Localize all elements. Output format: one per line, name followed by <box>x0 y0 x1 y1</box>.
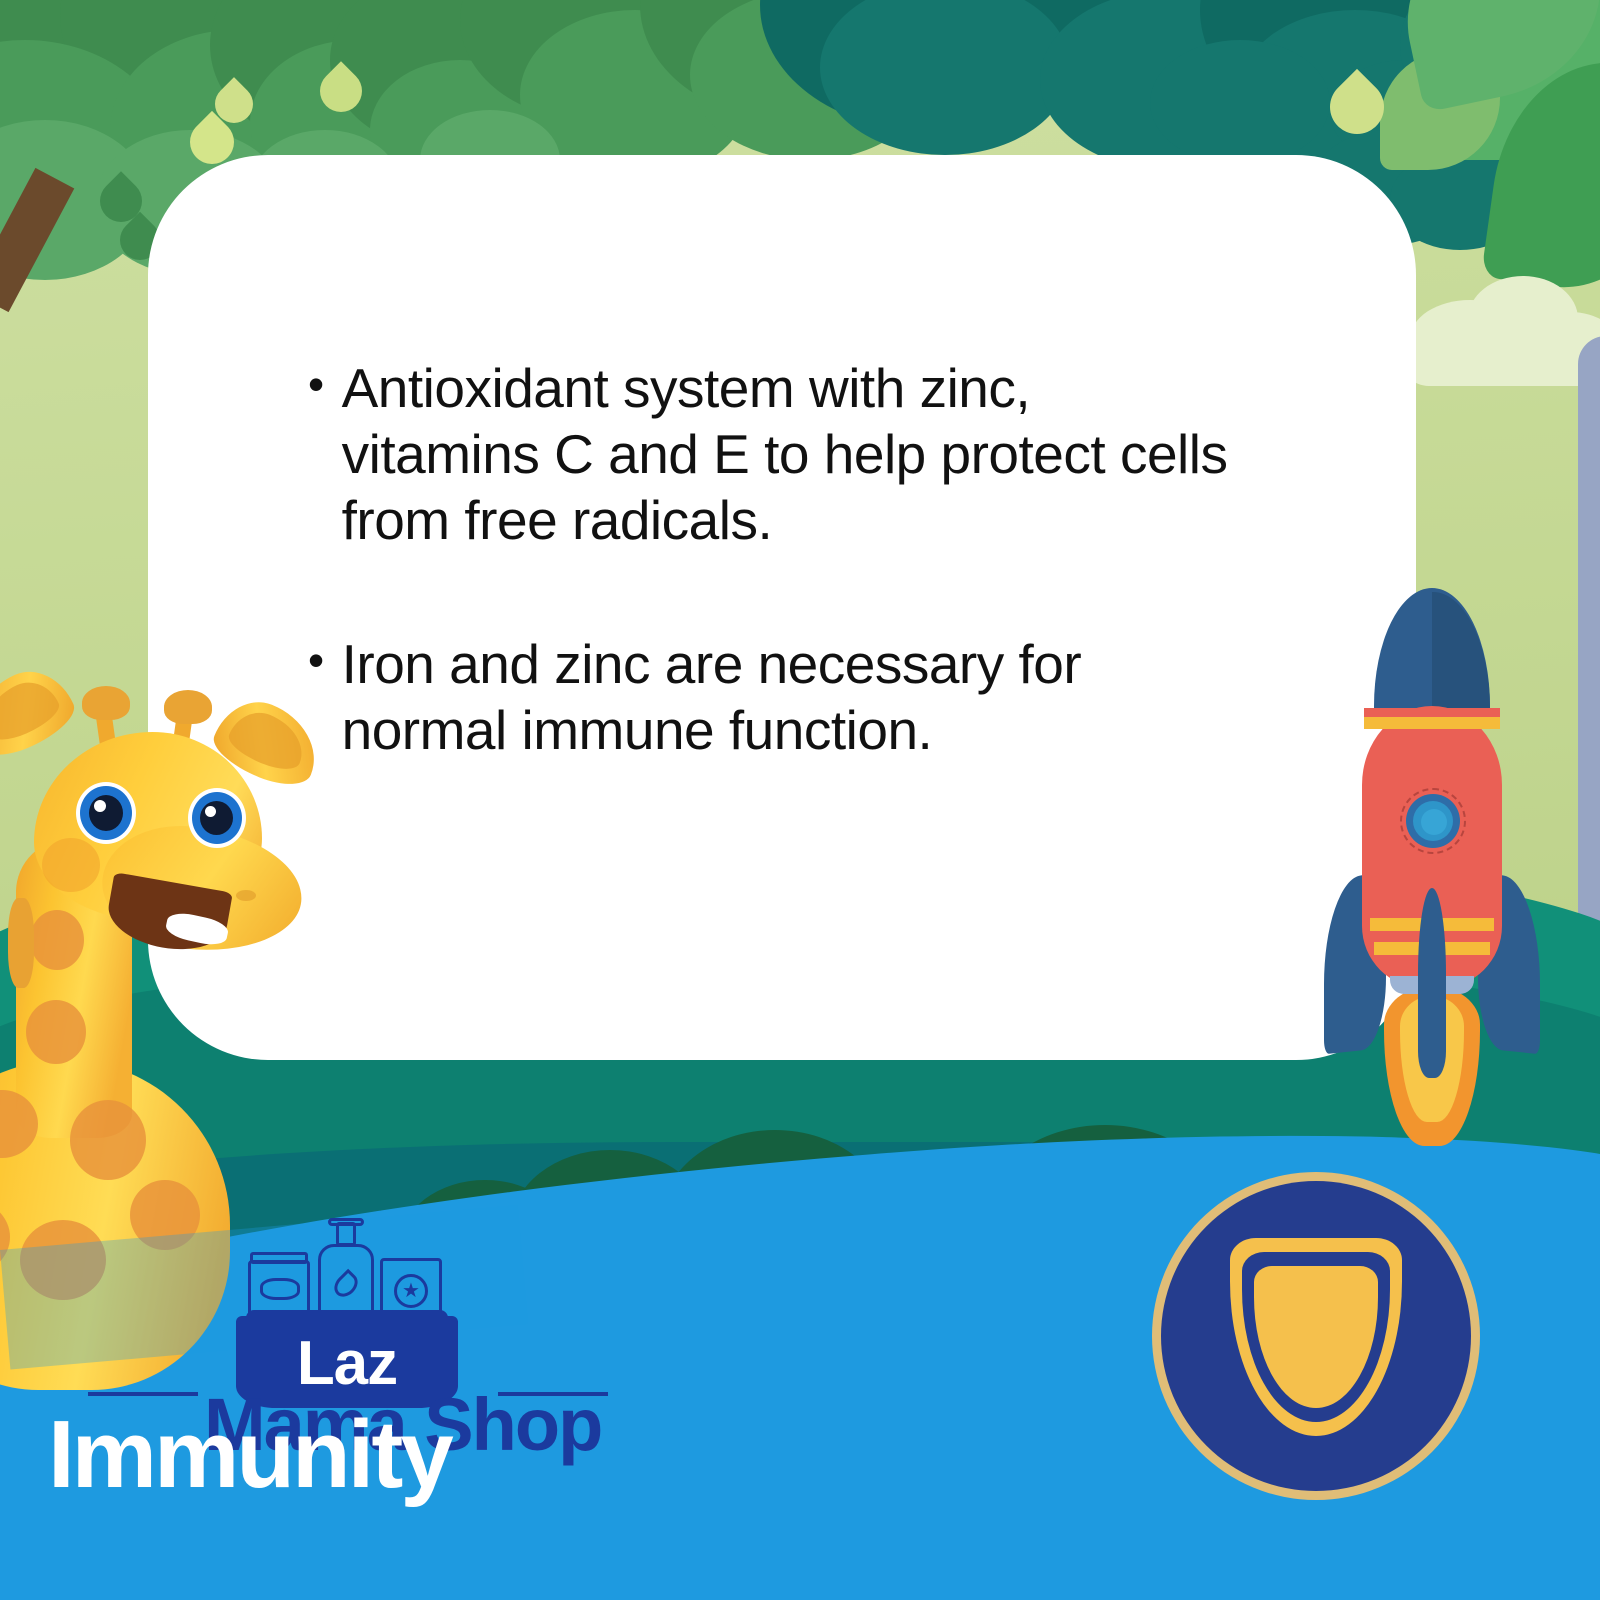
bullet-spacer <box>308 553 1238 631</box>
content-card: • Antioxidant system with zinc, vitamins… <box>148 155 1416 1060</box>
immunity-title: Immunity <box>48 1400 451 1510</box>
shield-icon <box>1152 1172 1480 1500</box>
bullet-list: • Antioxidant system with zinc, vitamins… <box>308 355 1238 763</box>
wipes-lid <box>250 1252 308 1264</box>
logo-rule-left <box>88 1392 198 1396</box>
bullet-text: Antioxidant system with zinc, vitamins C… <box>342 355 1238 553</box>
pump-top <box>328 1218 364 1226</box>
bullet-text: Iron and zinc are necessary for normal i… <box>342 631 1238 763</box>
wipes-opening <box>260 1278 300 1300</box>
rocket-icon <box>1322 588 1542 1088</box>
list-item: • Antioxidant system with zinc, vitamins… <box>308 355 1238 553</box>
bullet-marker-icon: • <box>308 355 324 414</box>
decorative-band-right <box>1578 336 1600 996</box>
list-item: • Iron and zinc are necessary for normal… <box>308 631 1238 763</box>
poster-canvas: • Antioxidant system with zinc, vitamins… <box>0 0 1600 1600</box>
star-icon: ★ <box>402 1282 420 1300</box>
